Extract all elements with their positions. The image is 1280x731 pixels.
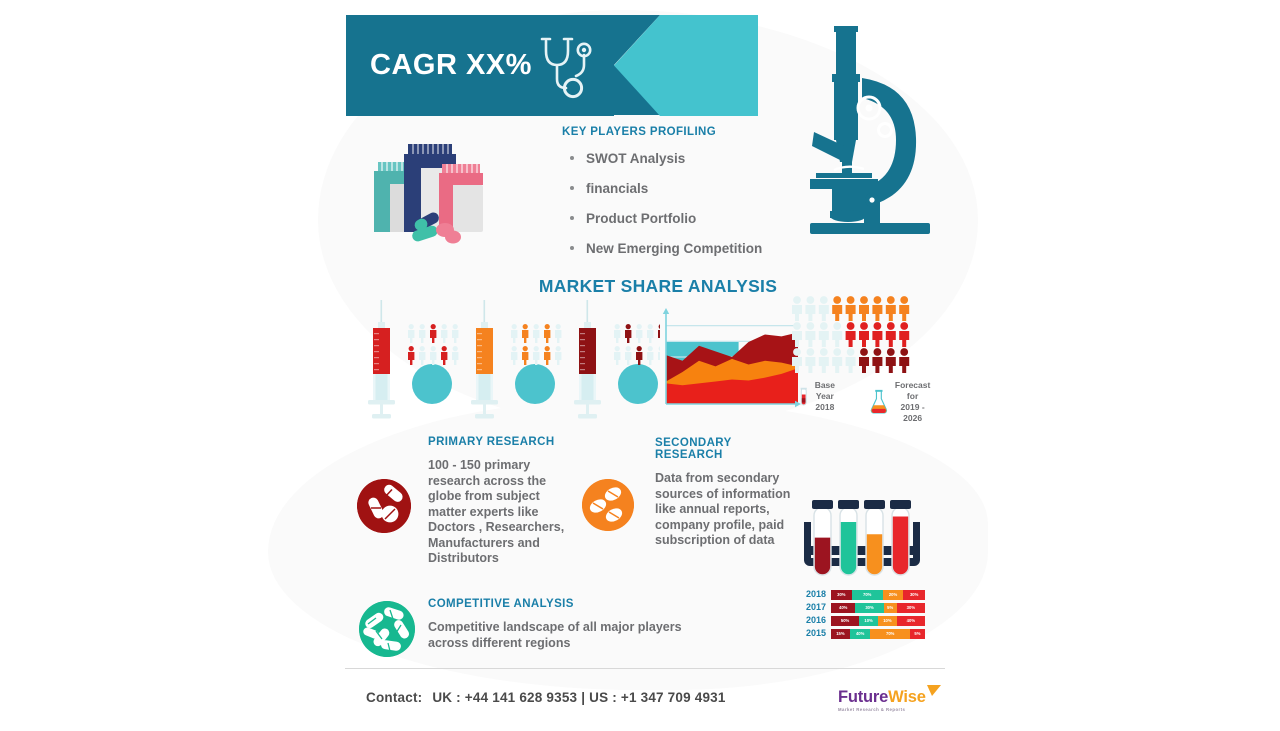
person-icon-filled [872, 322, 882, 347]
year-bar-segment: 10% [859, 616, 878, 626]
person-icon-filled [859, 322, 869, 347]
logo-part1: Future [838, 688, 888, 706]
year-bar-segment: 40% [897, 616, 925, 626]
person-icon-filled [886, 296, 896, 321]
person-icon-empty [805, 348, 815, 373]
teal-circle [515, 364, 555, 404]
list-item: financials [562, 181, 822, 196]
person-icon-filled [859, 296, 869, 321]
contact-value: UK : +44 141 628 9353 | US : +1 347 709 … [432, 690, 725, 705]
year-bar-row: 201515%40%70%5% [800, 628, 925, 639]
year-bar-row: 201650%10%10%40% [800, 615, 925, 626]
year-label: 2015 [800, 628, 826, 639]
teal-circle [412, 364, 452, 404]
microscope-icon [806, 20, 938, 235]
person-icon-empty [819, 296, 829, 321]
year-bars-chart: 201830%70%20%30%201740%30%5%30%201650%10… [800, 589, 925, 641]
year-bar-segment: 5% [884, 603, 897, 613]
flask-icon [870, 387, 888, 417]
person-icon-empty [819, 322, 829, 347]
infographic-canvas: CAGR XX% [0, 0, 1280, 731]
year-bar-segment: 20% [883, 590, 904, 600]
test-tube-icon [800, 382, 807, 412]
person-icon-empty [792, 348, 802, 373]
person-icon-empty [832, 348, 842, 373]
test-tube-red [890, 500, 911, 575]
test-tube-green [838, 500, 859, 575]
person-icon-empty [792, 322, 802, 347]
primary-research-body: 100 - 150 primary research across the gl… [428, 458, 578, 567]
legend-item-forecast: Forecast for 2019 - 2026 [870, 380, 932, 424]
year-label: 2016 [800, 615, 826, 626]
person-icon-empty [805, 322, 815, 347]
secondary-research-body: Data from secondary sources of informati… [655, 471, 801, 549]
year-bar-segment: 30% [897, 603, 925, 613]
year-bar-row: 201740%30%5%30% [800, 602, 925, 613]
syringe-red [368, 300, 458, 419]
contact-line: Contact: UK : +44 141 628 9353 | US : +1… [366, 690, 726, 705]
year-bar-segment: 10% [878, 616, 897, 626]
logo-tagline: Market Research & Reports [838, 707, 948, 712]
secondary-research-heading: SECONDARY RESEARCH [655, 437, 801, 461]
futurewise-logo[interactable]: FutureWise Market Research & Reports [838, 688, 948, 712]
tablets-circle-icon [582, 479, 634, 531]
logo-part2: Wise [888, 688, 926, 706]
person-icon-empty [819, 348, 829, 373]
syringe-orange [471, 300, 561, 419]
person-icon-empty [846, 348, 856, 373]
stethoscope-icon [536, 35, 602, 101]
person-icon-filled [899, 322, 909, 347]
legend-text: Forecast for 2019 - 2026 [893, 380, 933, 424]
footer-divider [345, 668, 945, 669]
competitive-analysis-body: Competitive landscape of all major playe… [428, 620, 718, 651]
year-bar-segment: 30% [855, 603, 883, 613]
primary-research-heading: PRIMARY RESEARCH [428, 436, 578, 448]
person-icon-filled [886, 322, 896, 347]
secondary-research-section: SECONDARY RESEARCH Data from secondary s… [655, 437, 801, 549]
person-icon-filled [846, 322, 856, 347]
market-share-area-chart [652, 306, 804, 418]
year-bar: 30%70%20%30% [831, 590, 925, 600]
primary-research-section: PRIMARY RESEARCH 100 - 150 primary resea… [428, 436, 578, 567]
person-icon-empty [792, 296, 802, 321]
year-bar-segment: 15% [831, 629, 850, 639]
person-icon-filled [899, 296, 909, 321]
person-icon-filled [899, 348, 909, 373]
list-item: Product Portfolio [562, 211, 822, 226]
year-bar-row: 201830%70%20%30% [800, 589, 925, 600]
year-bar-segment: 5% [910, 629, 925, 639]
year-bar-segment: 40% [831, 603, 855, 613]
year-bar-segment: 70% [852, 590, 883, 600]
list-item: SWOT Analysis [562, 151, 822, 166]
year-bar: 50%10%10%40% [831, 616, 925, 626]
year-bar-segment: 30% [903, 590, 925, 600]
year-label: 2018 [800, 589, 826, 600]
contact-label: Contact: [366, 690, 422, 705]
list-item: New Emerging Competition [562, 241, 822, 256]
year-label: 2017 [800, 602, 826, 613]
competitive-analysis-section: COMPETITIVE ANALYSIS Competitive landsca… [428, 598, 718, 651]
test-tube-orange [864, 500, 885, 575]
test-tube-rack-icon [798, 494, 926, 582]
syringe-darkred [574, 300, 660, 419]
key-players-heading: KEY PLAYERS PROFILING [562, 126, 822, 138]
person-icon-filled [832, 296, 842, 321]
cagr-banner: CAGR XX% [346, 15, 758, 116]
pill-bottles-icon [368, 138, 493, 256]
year-bar-segment: 70% [870, 629, 909, 639]
syringes-group [360, 300, 660, 420]
legend-text: Base Year 2018 [812, 380, 837, 413]
person-icon-empty [832, 322, 842, 347]
capsules-circle-icon [359, 601, 415, 657]
people-pictogram [792, 296, 918, 374]
year-bar-segment: 50% [831, 616, 859, 626]
person-icon-filled [859, 348, 869, 373]
year-bar: 15%40%70%5% [831, 629, 925, 639]
test-tube-darkred [812, 500, 833, 575]
person-icon-empty [805, 296, 815, 321]
competitive-analysis-heading: COMPETITIVE ANALYSIS [428, 598, 718, 610]
market-share-title: MARKET SHARE ANALYSIS [528, 276, 788, 297]
pills-circle-icon [357, 479, 411, 533]
year-bar: 40%30%5%30% [831, 603, 925, 613]
key-players-list: SWOT Analysis financials Product Portfol… [562, 151, 822, 256]
person-icon-filled [846, 296, 856, 321]
year-bar-segment: 30% [831, 590, 852, 600]
cagr-label: CAGR XX% [370, 46, 532, 84]
person-icon-filled [886, 348, 896, 373]
person-icon-filled [872, 296, 882, 321]
key-players-section: KEY PLAYERS PROFILING SWOT Analysis fina… [562, 126, 822, 271]
legend-item-base-year: Base Year 2018 [800, 380, 837, 413]
flag-icon [926, 684, 942, 698]
year-bar-segment: 40% [850, 629, 871, 639]
person-icon-filled [872, 348, 882, 373]
